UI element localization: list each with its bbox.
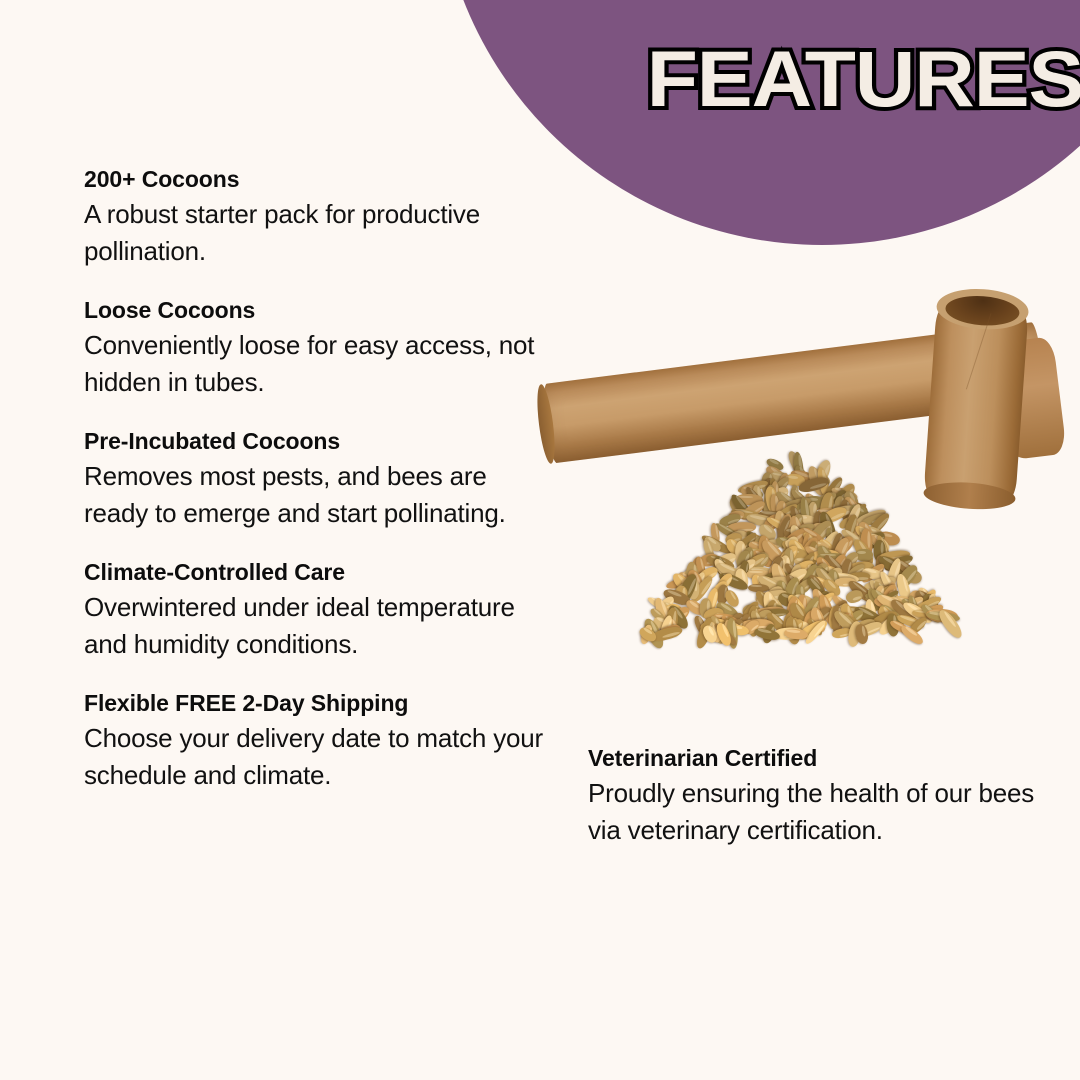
page-title: FEATURES xyxy=(642,36,1080,122)
feature-item-loose-cocoons: Loose Cocoons Conveniently loose for eas… xyxy=(84,294,554,401)
feature-description: Choose your delivery date to match your … xyxy=(84,720,554,794)
feature-title: 200+ Cocoons xyxy=(84,163,554,196)
feature-description: Overwintered under ideal temperature and… xyxy=(84,589,554,663)
feature-item-climate-controlled: Climate-Controlled Care Overwintered und… xyxy=(84,556,554,663)
feature-description: Removes most pests, and bees are ready t… xyxy=(84,458,554,532)
feature-title: Climate-Controlled Care xyxy=(84,556,554,589)
feature-item-free-shipping: Flexible FREE 2-Day Shipping Choose your… xyxy=(84,687,554,794)
features-list: 200+ Cocoons A robust starter pack for p… xyxy=(84,163,554,794)
feature-title: Flexible FREE 2-Day Shipping xyxy=(84,687,554,720)
feature-title: Veterinarian Certified xyxy=(588,742,1038,775)
feature-item-cocoon-count: 200+ Cocoons A robust starter pack for p… xyxy=(84,163,554,270)
feature-title: Pre-Incubated Cocoons xyxy=(84,425,554,458)
feature-item-pre-incubated: Pre-Incubated Cocoons Removes most pests… xyxy=(84,425,554,532)
product-photo xyxy=(520,280,1080,680)
feature-title: Loose Cocoons xyxy=(84,294,554,327)
feature-description: A robust starter pack for productive pol… xyxy=(84,196,554,270)
feature-slide: FEATURES 200+ Cocoons A robust starter p… xyxy=(0,0,1080,1080)
feature-item-veterinarian-certified: Veterinarian Certified Proudly ensuring … xyxy=(588,742,1038,849)
feature-description: Conveniently loose for easy access, not … xyxy=(84,327,554,401)
cocoon-pile xyxy=(640,448,960,663)
feature-description: Proudly ensuring the health of our bees … xyxy=(588,775,1038,849)
